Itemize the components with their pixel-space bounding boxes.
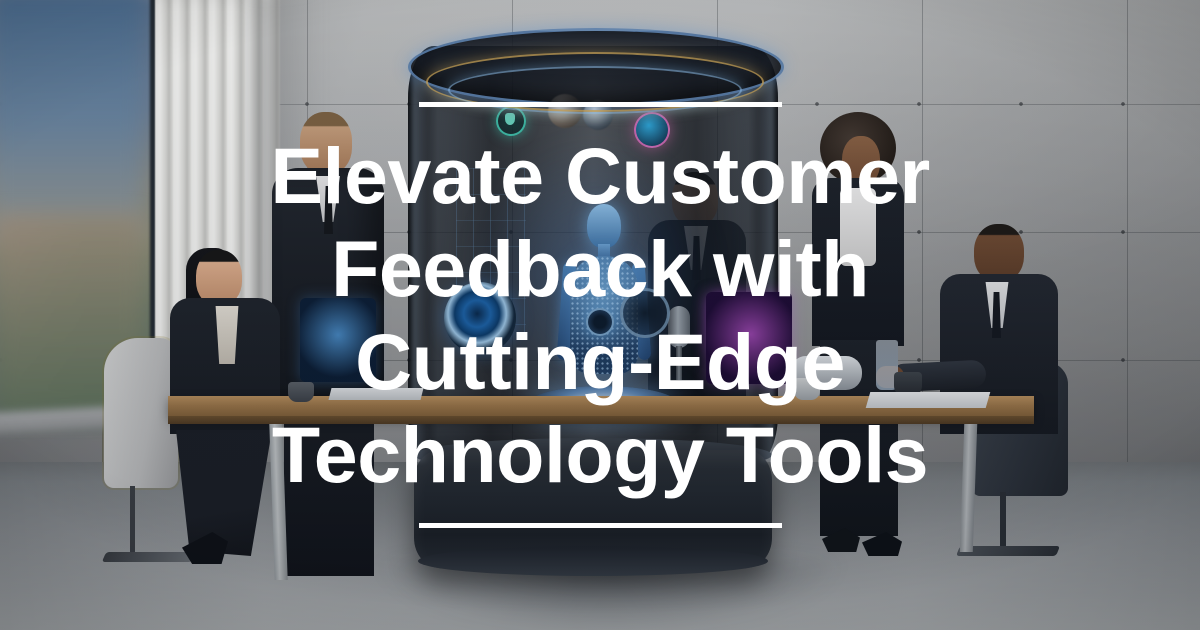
divider-rule-top (419, 102, 782, 107)
hero-banner: Elevate Customer Feedback with Cutting-E… (0, 0, 1200, 630)
headline-line-3: Cutting-Edge (355, 317, 845, 406)
headline-line-4: Technology Tools (272, 410, 928, 499)
headline-line-2: Feedback with (331, 224, 869, 313)
divider-rule-bottom (419, 523, 782, 528)
headline-overlay: Elevate Customer Feedback with Cutting-E… (0, 0, 1200, 630)
page-title: Elevate Customer Feedback with Cutting-E… (250, 129, 950, 501)
headline-line-1: Elevate Customer (270, 131, 929, 220)
